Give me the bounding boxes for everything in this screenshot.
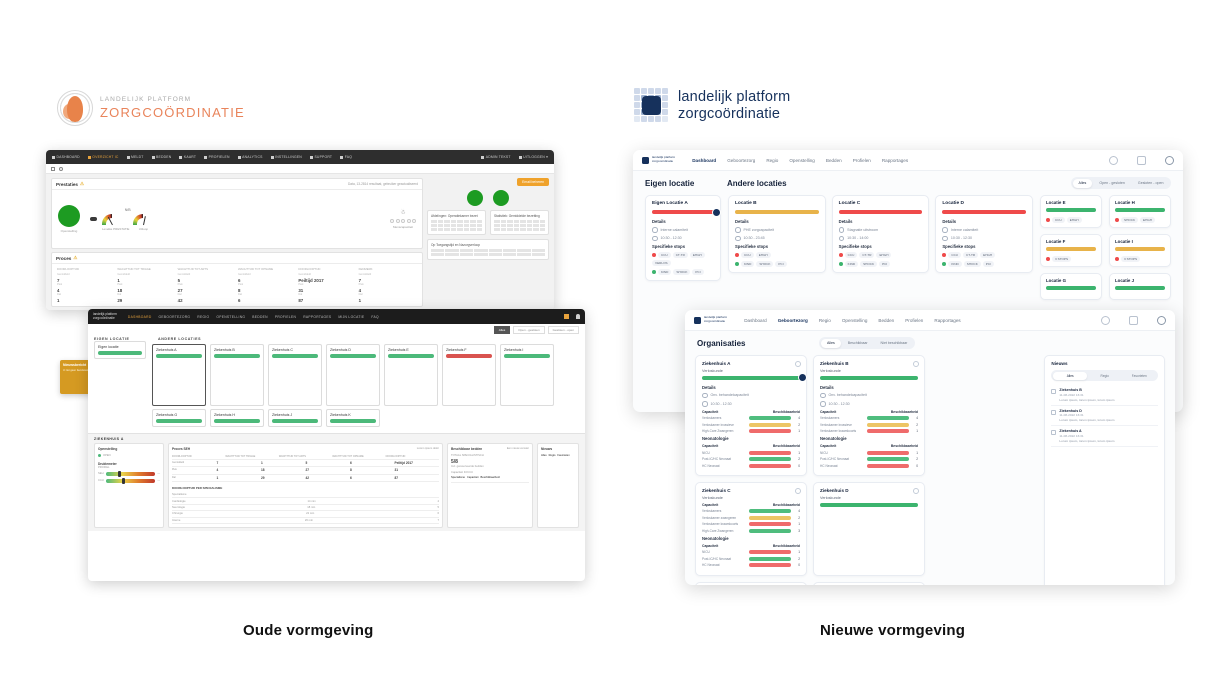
stop-chip[interactable]: SHOCK — [1121, 217, 1138, 223]
beschikbaar-tab-1[interactable]: Capaciteit — [467, 476, 479, 479]
new-w2-nav-0[interactable]: Dashboard — [744, 318, 766, 323]
old-nav-label: BEDDEN — [156, 155, 171, 159]
stop-chip[interactable]: SHOCK — [860, 261, 877, 267]
nieuws-item[interactable]: Ziekenhuis A11-08-2022 16:31Lorum ipsum,… — [1051, 426, 1158, 447]
comparison-slide: LANDELIJK PLATFORM ZORGCOÖRDINATIE lande… — [0, 0, 1220, 684]
nieuws-item-name: Ziekenhuis D — [1059, 409, 1114, 413]
old-w2-filter-0[interactable]: Alles — [494, 326, 511, 334]
capacity-label: Verloskamers — [702, 509, 746, 513]
location-2-info-row: Interne calamiteit — [942, 227, 1026, 233]
old-w2-navbar[interactable]: landelijk platform zorgcoördinatie DASHB… — [88, 309, 585, 324]
new-nav-item-0[interactable]: Dashboard — [692, 158, 716, 163]
capacity-bar — [749, 522, 791, 526]
spec-count: 6 — [437, 512, 439, 515]
stop-chip[interactable]: CCU — [845, 252, 858, 258]
new-nav-item-6[interactable]: Rapportages — [882, 158, 908, 163]
old-w2-logo: landelijk platform zorgcoördinatie — [93, 313, 117, 320]
new-navbar[interactable]: landelijk platform zorgcoördinatie Dashb… — [633, 150, 1183, 171]
hospital-table-header: CapaciteitBeschikbaarheid — [820, 410, 918, 414]
new-w2-nav-2[interactable]: Regio — [819, 318, 831, 323]
clock-icon — [735, 236, 741, 242]
proces-row-label: Gemiddeld — [178, 273, 236, 276]
old-nav-item-4[interactable]: KAART — [179, 155, 196, 159]
gear-icon[interactable] — [795, 488, 801, 494]
toggle-icon[interactable] — [90, 217, 97, 221]
old-w2-nav-2[interactable]: REGIO — [197, 315, 209, 319]
stop-chip[interactable]: CCU — [658, 252, 671, 258]
notifications-icon-2[interactable] — [1129, 316, 1138, 325]
old-w2-nav-3[interactable]: OPENSTELLING — [216, 315, 245, 319]
mini-loc-status-bar — [1115, 247, 1165, 251]
spec-count: 7 — [437, 519, 439, 522]
capacity-bar — [749, 423, 791, 427]
hospital-card[interactable]: Ziekenhuis BVerloskundeDetailsOnv. behan… — [813, 355, 925, 476]
old-w2-filters[interactable]: AllesOpen - geslotenGesloten - open — [88, 324, 585, 334]
druktemeter-slider[interactable] — [106, 479, 155, 483]
indicator-green-1 — [467, 190, 483, 206]
new-w2-nav-3[interactable]: Openstelling — [842, 318, 868, 323]
location-card[interactable]: Ziekenhuis H — [210, 409, 264, 427]
stop-chip[interactable]: PCI — [983, 261, 994, 267]
old-logo: LANDELIJK PLATFORM ZORGCOÖRDINATIE — [57, 90, 217, 130]
old-w2-nav-6[interactable]: RAPPORTAGES — [303, 315, 331, 319]
help-icon[interactable] — [1109, 156, 1118, 165]
stop-chip[interactable]: KIND — [845, 261, 858, 267]
location-card[interactable]: Ziekenhuis D — [326, 344, 380, 406]
new-nav-item-3[interactable]: Openstelling — [789, 158, 815, 163]
location-0-info-row: 10:30 - 23:45 — [735, 236, 819, 242]
old-w2-nav-1[interactable]: GEBOORTEZORG — [159, 315, 191, 319]
capacity-value: 0 — [794, 464, 800, 468]
location-card-name: Ziekenhuis F — [446, 348, 492, 352]
mini-loc-title: Locatie H — [1115, 200, 1165, 205]
gauge-chart-2 — [133, 214, 153, 225]
capacity-row: Verloskamer kraamkoorts1 — [702, 522, 800, 526]
stop-chip[interactable]: EHGH — [756, 252, 771, 258]
stop-chip[interactable]: EHGH — [980, 252, 995, 258]
clock-icon — [652, 236, 658, 242]
old-nav-item-3[interactable]: BEDDEN — [152, 155, 172, 159]
hospital-subtitle: Verloskunde — [820, 496, 918, 500]
proces-header-cell: WACHTTIJD TOT OPNAME — [332, 455, 385, 458]
people-label: Menscapaciteit — [390, 225, 416, 229]
old-w2-filter-2[interactable]: Gesloten - open — [548, 326, 579, 334]
new-logo-line1: landelijk platform — [678, 89, 790, 105]
old-w2-nav-0[interactable]: DASHBOARD — [128, 315, 152, 319]
new-other-title: Andere locaties — [727, 179, 787, 188]
capacity-label: Post-IC/HC Neonaat — [702, 457, 746, 461]
stop-chip[interactable]: EHGH — [690, 252, 705, 258]
new-nav-item-5[interactable]: Profielen — [853, 158, 871, 163]
old-nav-item-1[interactable]: OVERZICHT IC — [88, 155, 119, 159]
old-nav-item-6[interactable]: ANALYTICS — [238, 155, 263, 159]
slider-handle[interactable] — [118, 471, 121, 477]
stop-chip[interactable]: CT-TR — [673, 252, 688, 258]
status-dot — [1046, 218, 1050, 222]
nav-logo-line2: zorgcoördinatie — [652, 160, 675, 164]
mini-loc-chips: SHOCKEHGH — [1115, 217, 1165, 223]
grid-placeholder — [494, 220, 545, 231]
hospital-status-bar — [702, 376, 800, 380]
old-right-card-3-title: Op Toegangstijd en Nazorgverloop — [431, 243, 545, 247]
nieuws-tabs[interactable]: AllesRegioFavorieten — [1051, 370, 1158, 381]
capacity-bar — [749, 557, 791, 561]
nav-bullet-icon — [238, 156, 241, 159]
capacity-bar — [867, 457, 909, 461]
stop-chip[interactable]: CT-TR — [859, 252, 874, 258]
location-card[interactable]: Ziekenhuis G — [152, 409, 206, 427]
proces-row-label: Dal — [238, 293, 296, 296]
old-w2-nav-7[interactable]: MIJN LOCATIE — [338, 315, 364, 319]
new-logo-core — [642, 96, 661, 115]
nieuws-title: Nieuws — [1051, 361, 1158, 366]
new-filter-1[interactable]: Open - gesloten — [1093, 179, 1131, 188]
own-card-title: Eigen Locatie A — [652, 201, 714, 206]
beschikbaar-tab-2[interactable]: Beschikbaarheid — [481, 476, 500, 479]
old-right-card-title: Afdelingen: Operatiekamer bezet — [431, 214, 482, 218]
mini-loc-card-0[interactable]: Locatie ECCUEHGH — [1040, 195, 1102, 228]
new-nav-item-1[interactable]: Geboortezorg — [727, 158, 755, 163]
own-card-stops-label: Specifieke stops — [652, 244, 714, 249]
proces-row-label: Piek — [238, 283, 296, 286]
location-details-label: Details — [735, 219, 819, 224]
old-nav-item-0[interactable]: DASHBOARD — [52, 155, 80, 159]
location-card-name: Ziekenhuis G — [156, 413, 202, 417]
location-status-bar — [735, 210, 819, 214]
stop-chip[interactable]: SHOCK — [964, 261, 981, 267]
beschikbaar-tab-0[interactable]: Specialisme — [451, 476, 465, 479]
old-nav-label: MELDT — [131, 155, 144, 159]
spec-value: 26 min — [305, 519, 313, 522]
capacity-bar — [749, 550, 791, 554]
location-card[interactable]: Ziekenhuis K — [326, 409, 380, 427]
gear-icon[interactable] — [913, 361, 919, 367]
old-w2-nav-8[interactable]: FAQ — [371, 315, 379, 319]
gauge-caption-1: Levelke PRESTATIE — [102, 227, 129, 231]
old-nav-label: INSTELLINGEN — [275, 155, 302, 159]
location-card[interactable]: Ziekenhuis B — [210, 344, 264, 406]
hospital-info: Onv. behandelcapaciteit10:30 - 12:30 — [820, 393, 918, 407]
old-nav-logout[interactable]: UITLOGGEN ▾ — [519, 155, 548, 159]
old-nav-item-8[interactable]: SUPPORT — [310, 155, 332, 159]
slider-handle[interactable] — [122, 478, 125, 484]
druktemeter-row: SEH— — [98, 472, 160, 476]
capacity-label: HC Neonaat — [702, 563, 746, 567]
proces-row-label: Piek — [57, 283, 115, 286]
hospital-0-info-row: Onv. behandelcapaciteit — [702, 393, 800, 399]
location-0-info-text: PHE zorgcapaciteit — [744, 228, 775, 232]
new-filter-2[interactable]: Gesloten - open — [1132, 179, 1170, 188]
proces-cell: 87 — [395, 476, 440, 480]
new-nav-item-2[interactable]: Regio — [766, 158, 778, 163]
old-nav-label: KAART — [184, 155, 196, 159]
stop-chip[interactable]: KIND — [948, 261, 961, 267]
spec-label: Specialisme — [172, 493, 187, 496]
old-nav-item-5[interactable]: PROFIELEN — [204, 155, 230, 159]
stop-chip[interactable]: PCI — [775, 261, 786, 267]
status-dot-green — [839, 262, 843, 266]
location-card-name: Ziekenhuis K — [330, 413, 376, 417]
mini-loc-card-2[interactable]: Locatie G — [1040, 273, 1102, 300]
new-w2-filter-2[interactable]: Niet beschikbaar — [875, 339, 914, 348]
hospital-card[interactable]: Ziekenhuis CVerloskundeCapaciteitBeschik… — [695, 482, 807, 576]
new-nav-item-4[interactable]: Bedden — [826, 158, 842, 163]
hospital-status-bar — [820, 503, 918, 507]
capacity-label: Post-IC/HC Neonaat — [820, 457, 864, 461]
stop-chip[interactable]: EHGH — [876, 252, 891, 258]
old-nieuws-tabs[interactable]: AllesRegioFavorieten — [541, 454, 575, 457]
proces-cell: 42 — [306, 476, 351, 480]
old-nieuws-tab-0[interactable]: Alles — [541, 454, 547, 457]
location-card[interactable]: Ziekenhuis I — [500, 344, 554, 406]
old-nav-item-2[interactable]: MELDT — [127, 155, 144, 159]
hospital-details-label: Details — [820, 385, 918, 390]
mini-loc-card-0[interactable]: Locatie HSHOCKEHGH — [1109, 195, 1171, 228]
proces-col-header: DOORLOOPTIJD — [298, 267, 356, 271]
new-filter-pills[interactable]: AllesOpen - geslotenGesloten - open — [1071, 177, 1171, 189]
own-location-card-new[interactable]: Eigen Locatie A Details Interne calamite… — [645, 195, 721, 281]
new-w2-grid: Ziekenhuis AVerloskundeDetailsOnv. behan… — [685, 353, 1175, 585]
beschikbaar-note[interactable]: Een nieuw venster — [507, 447, 529, 451]
old-w2-body: EIGEN LOCATIE ANDERE LOCATIES Eigen loca… — [88, 334, 585, 430]
mini-loc-status-bar — [1046, 247, 1096, 251]
nav-bullet-icon — [152, 156, 155, 159]
stop-chip[interactable]: KIND — [741, 261, 754, 267]
mini-loc-card-2[interactable]: Locatie J — [1109, 273, 1171, 300]
nieuws-item[interactable]: Ziekenhuis D11-08-2022 16:31Lorum ipsum,… — [1051, 406, 1158, 427]
stop-chip[interactable]: EHGH — [1140, 217, 1155, 223]
email-beheren-button[interactable]: Email beheren — [517, 178, 549, 186]
stop-chip[interactable]: CCU — [1052, 217, 1065, 223]
proces-col-3: WACHTTIJD TOT OPNAMEGemiddeld6Piek8Dal6 — [238, 267, 296, 303]
capacity-label: Post-IC/HC Neonaat — [702, 557, 746, 561]
nieuws-item-name: Ziekenhuis A — [1059, 429, 1114, 433]
nieuws-tab-1[interactable]: Regio — [1087, 372, 1122, 380]
location-card[interactable]: Ziekenhuis F — [442, 344, 496, 406]
location-status-bar — [272, 419, 318, 423]
capacity-value: 1 — [794, 451, 800, 455]
druktemeter-sliders[interactable]: SEH—CCU— — [98, 472, 160, 483]
spec-row: Interne26 min7 — [172, 518, 439, 524]
info-icon — [942, 227, 948, 233]
stop-chip[interactable]: SHOCK — [756, 261, 773, 267]
new-logo-line2: zorgcoördinatie — [678, 106, 780, 122]
status-dot — [1046, 257, 1050, 261]
stop-chip[interactable]: 3 STOPS — [1121, 256, 1140, 262]
info-icon — [702, 393, 708, 399]
nieuws-tab-2[interactable]: Favorieten — [1122, 372, 1157, 380]
hospital-0-info-text: 10:30 - 12:30 — [711, 402, 732, 406]
old-right-cards: Afdelingen: Operatiekamer bezetStatistie… — [427, 210, 549, 235]
proces-cell: 27 — [306, 468, 351, 472]
new-w2-filter-0[interactable]: Alles — [821, 339, 841, 348]
nieuws-item-text: Lorum ipsum, lorum ipsum, lorum ipsum — [1059, 418, 1114, 422]
proces-cell: 6 — [350, 476, 395, 480]
old-nieuws-tab-2[interactable]: Favorieten — [557, 454, 569, 457]
proces-header-cell: DOORLOOPTIJD — [172, 455, 225, 458]
search-icon[interactable] — [59, 167, 63, 171]
stop-chip[interactable]: PCI — [879, 261, 890, 267]
location-card[interactable]: Ziekenhuis J — [268, 409, 322, 427]
nieuws-item-name: Ziekenhuis B — [1059, 388, 1114, 392]
location-card-name: Ziekenhuis E — [388, 348, 434, 352]
old-nav-item-7[interactable]: INSTELLINGEN — [271, 155, 302, 159]
new-w2-navbar[interactable]: landelijk platform zorgcoördinatie Dashb… — [685, 310, 1175, 331]
account-icon[interactable] — [1165, 156, 1174, 165]
gear-icon[interactable] — [795, 361, 801, 367]
nieuws-item-date: 11-08-2022 16:31 — [1059, 393, 1114, 397]
location-stops-label: Specifieke stops — [735, 244, 819, 249]
location-card[interactable]: Ziekenhuis A — [152, 344, 206, 406]
mini-loc-status-bar — [1115, 208, 1165, 212]
stop-chip[interactable]: CCU — [948, 252, 961, 258]
user-icon[interactable] — [576, 314, 580, 319]
capacity-label: High-Care Zwangeren — [702, 529, 746, 533]
hospital-badge-icon — [798, 373, 807, 382]
nieuws-tab-0[interactable]: Alles — [1053, 372, 1088, 380]
own-location-card[interactable]: Eigen locatie — [94, 341, 146, 359]
stop-chip[interactable]: VERLOS — [652, 260, 671, 266]
home-icon[interactable] — [51, 167, 55, 171]
location-info: Interne calamiteit10:30 - 12:30 — [942, 227, 1026, 241]
stop-chip[interactable]: 3 STOPS — [1052, 256, 1071, 262]
new-w2-filter-1[interactable]: Beschikbaar — [842, 339, 874, 348]
beschikbaar-tabs[interactable]: SpecialismeCapaciteitBeschikbaarheid — [451, 476, 529, 479]
new-w2-nav-5[interactable]: Profielen — [905, 318, 923, 323]
proces-seh-table: DOORLOOPTIJDWACHTTIJD TOT TRIAGEWACHTTIJ… — [172, 454, 439, 483]
help-icon-2[interactable] — [1101, 316, 1110, 325]
location-card-name: Ziekenhuis A — [156, 348, 202, 352]
hospital-card[interactable]: Ziekenhuis EVerloskunde — [695, 582, 807, 586]
hospital-card[interactable]: Ziekenhuis DVerloskunde — [813, 482, 925, 576]
capacity-label: NICU — [702, 451, 746, 455]
old-nav-user[interactable]: ADMIN TEKST — [481, 155, 510, 159]
proces-seh-rows: SpecialismeCardiologie14 min4Neurologie1… — [172, 492, 439, 524]
status-dot-green — [735, 262, 739, 266]
old-w2-nav-4[interactable]: BEDDEN — [252, 315, 268, 319]
capacity-row: High-Care Zwangeren1 — [702, 429, 800, 433]
proces-col-4: DOORLOOPTIJDGemiddeldPeiltijd 2017Piek31… — [298, 267, 356, 303]
account-icon-2[interactable] — [1157, 316, 1166, 325]
location-status-bar — [388, 354, 434, 358]
new-w2-filter-pills[interactable]: AllesBeschikbaarNiet beschikbaar — [819, 337, 914, 349]
stop-chip[interactable]: PCI — [692, 269, 703, 275]
new-w2-nav-4[interactable]: Bedden — [878, 318, 894, 323]
location-card-title: Locatie D — [942, 201, 1026, 206]
clock-icon — [702, 401, 708, 407]
hospital-card[interactable]: Ziekenhuis AVerloskundeDetailsOnv. behan… — [695, 355, 807, 476]
proces-row-value: 87 — [298, 298, 356, 303]
prestaties-card: Prestaties⚠ Data, 13-2814 resultaat, geb… — [51, 178, 423, 249]
stop-chip[interactable]: KIND — [658, 269, 671, 275]
gear-icon[interactable] — [913, 488, 919, 494]
capacity-bar — [867, 451, 909, 455]
new-w2-nav-6[interactable]: Rapportages — [934, 318, 960, 323]
capacity-label: Verloskamer kraamkoorts — [820, 429, 864, 433]
capacity-row: Verloskamers4 — [702, 509, 800, 513]
hospital-status-bar — [820, 376, 918, 380]
proces-row-value: 29 — [117, 298, 175, 303]
new-cards-grid: Eigen Locatie A Details Interne calamite… — [633, 193, 1183, 308]
stop-chip[interactable]: CCU — [741, 252, 754, 258]
status-dot-red — [652, 253, 656, 257]
mini-column-2: Locatie HSHOCKEHGHLocatie I3 STOPSLocati… — [1109, 195, 1171, 300]
hospital-info: Onv. behandelcapaciteit10:30 - 12:30 — [702, 393, 800, 407]
proces-row-value: 1 — [359, 298, 417, 303]
proces-cell: 31 — [395, 468, 440, 472]
druktemeter-slider[interactable] — [106, 472, 156, 476]
location-card-new[interactable]: Locatie BDetailsPHE zorgcapaciteit10:30 … — [728, 195, 826, 273]
old-w2-filter-1[interactable]: Open - gesloten — [513, 326, 544, 334]
old-nieuws-panel: Nieuws AllesRegioFavorieten — [537, 443, 579, 528]
location-status-bar — [214, 354, 260, 358]
capacity-row: Verloskamer invasieve2 — [702, 423, 800, 427]
prestaties-note: Data, 13-2814 resultaat, gebruiker geact… — [348, 182, 418, 186]
capacity-row-2: Post-IC/HC Neonaat2 — [702, 557, 800, 561]
location-status-bar — [214, 419, 260, 423]
mini-loc-title: Locatie J — [1115, 278, 1165, 283]
hospital-0-info-row: 10:30 - 12:30 — [702, 401, 800, 407]
old-locations-window: landelijk platform zorgcoördinatie DASHB… — [88, 309, 585, 581]
proces-col-header: KENMERK — [359, 267, 417, 271]
nieuws-item[interactable]: Ziekenhuis B11-08-2022 16:31Lorum ipsum,… — [1051, 385, 1158, 406]
old-nieuws-tab-1[interactable]: Regio — [549, 454, 556, 457]
capacity-value: 1 — [794, 429, 800, 433]
own-location-name: Eigen locatie — [98, 345, 142, 349]
proces-cell: 1 — [261, 461, 306, 465]
proces-row-label: Dal — [172, 476, 217, 480]
proces-cell: Peiltijd 2017 — [395, 461, 440, 465]
location-stops: CCUEHGHKINDSHOCKPCI — [735, 252, 819, 267]
location-card-new[interactable]: Locatie CDetailsStagnatie uitstroom10:30… — [832, 195, 930, 273]
old-w2-nav-5[interactable]: PROFIELEN — [275, 315, 296, 319]
old-nav-item-9[interactable]: FAQ — [340, 155, 352, 159]
stop-chip[interactable]: SHOCK — [673, 269, 690, 275]
nieuws-item-text: Lorum ipsum, lorum ipsum, lorum ipsum — [1059, 439, 1114, 443]
location-1-info-row: Stagnatie uitstroom — [839, 227, 923, 233]
druktemeter-value: — — [157, 472, 160, 475]
mini-loc-card-1[interactable]: Locatie F3 STOPS — [1040, 234, 1102, 267]
notifications-icon[interactable] — [1137, 156, 1146, 165]
proces-cell: 6 — [350, 461, 395, 465]
own-card-info-list: Interne calamiteit10:30 - 12:30 — [652, 227, 714, 241]
own-location-column: Eigen Locatie A Details Interne calamite… — [645, 195, 721, 300]
location-card-new[interactable]: Locatie DDetailsInterne calamiteit10:30 … — [935, 195, 1033, 273]
capacity-value: 1 — [912, 451, 918, 455]
druktemeter-row: CCU— — [98, 479, 160, 483]
capacity-bar — [867, 464, 909, 468]
nav-bullet-icon — [204, 156, 207, 159]
stop-chip[interactable]: CT-TR — [963, 252, 978, 258]
alert-icon[interactable] — [564, 314, 569, 319]
capacity-label: Verloskamers — [820, 416, 864, 420]
hospital-table-header-2: CapaciteitBeschikbaarheid — [702, 444, 800, 448]
location-column-2: Locatie DDetailsInterne calamiteit10:30 … — [935, 195, 1033, 300]
location-2-info-row: 10:30 - 12:30 — [942, 236, 1026, 242]
location-card[interactable]: Ziekenhuis E — [384, 344, 438, 406]
old-top-navbar[interactable]: DASHBOARDOVERZICHT ICMELDTBEDDENKAARTPRO… — [46, 150, 554, 164]
location-card[interactable]: Ziekenhuis C — [268, 344, 322, 406]
capacity-value: 4 — [794, 416, 800, 420]
capacity-label: HC Neonaat — [702, 464, 746, 468]
new-filter-0[interactable]: Alles — [1073, 179, 1093, 188]
hospital-card[interactable]: Ziekenhuis FVerloskunde — [813, 582, 925, 586]
new-w2-nav-1[interactable]: Geboortezorg — [778, 318, 808, 323]
own-card-details-label: Details — [652, 219, 714, 224]
stop-chip[interactable]: EHGH — [1067, 217, 1082, 223]
location-card-name: Ziekenhuis C — [272, 348, 318, 352]
mini-loc-card-1[interactable]: Locatie I3 STOPS — [1109, 234, 1171, 267]
